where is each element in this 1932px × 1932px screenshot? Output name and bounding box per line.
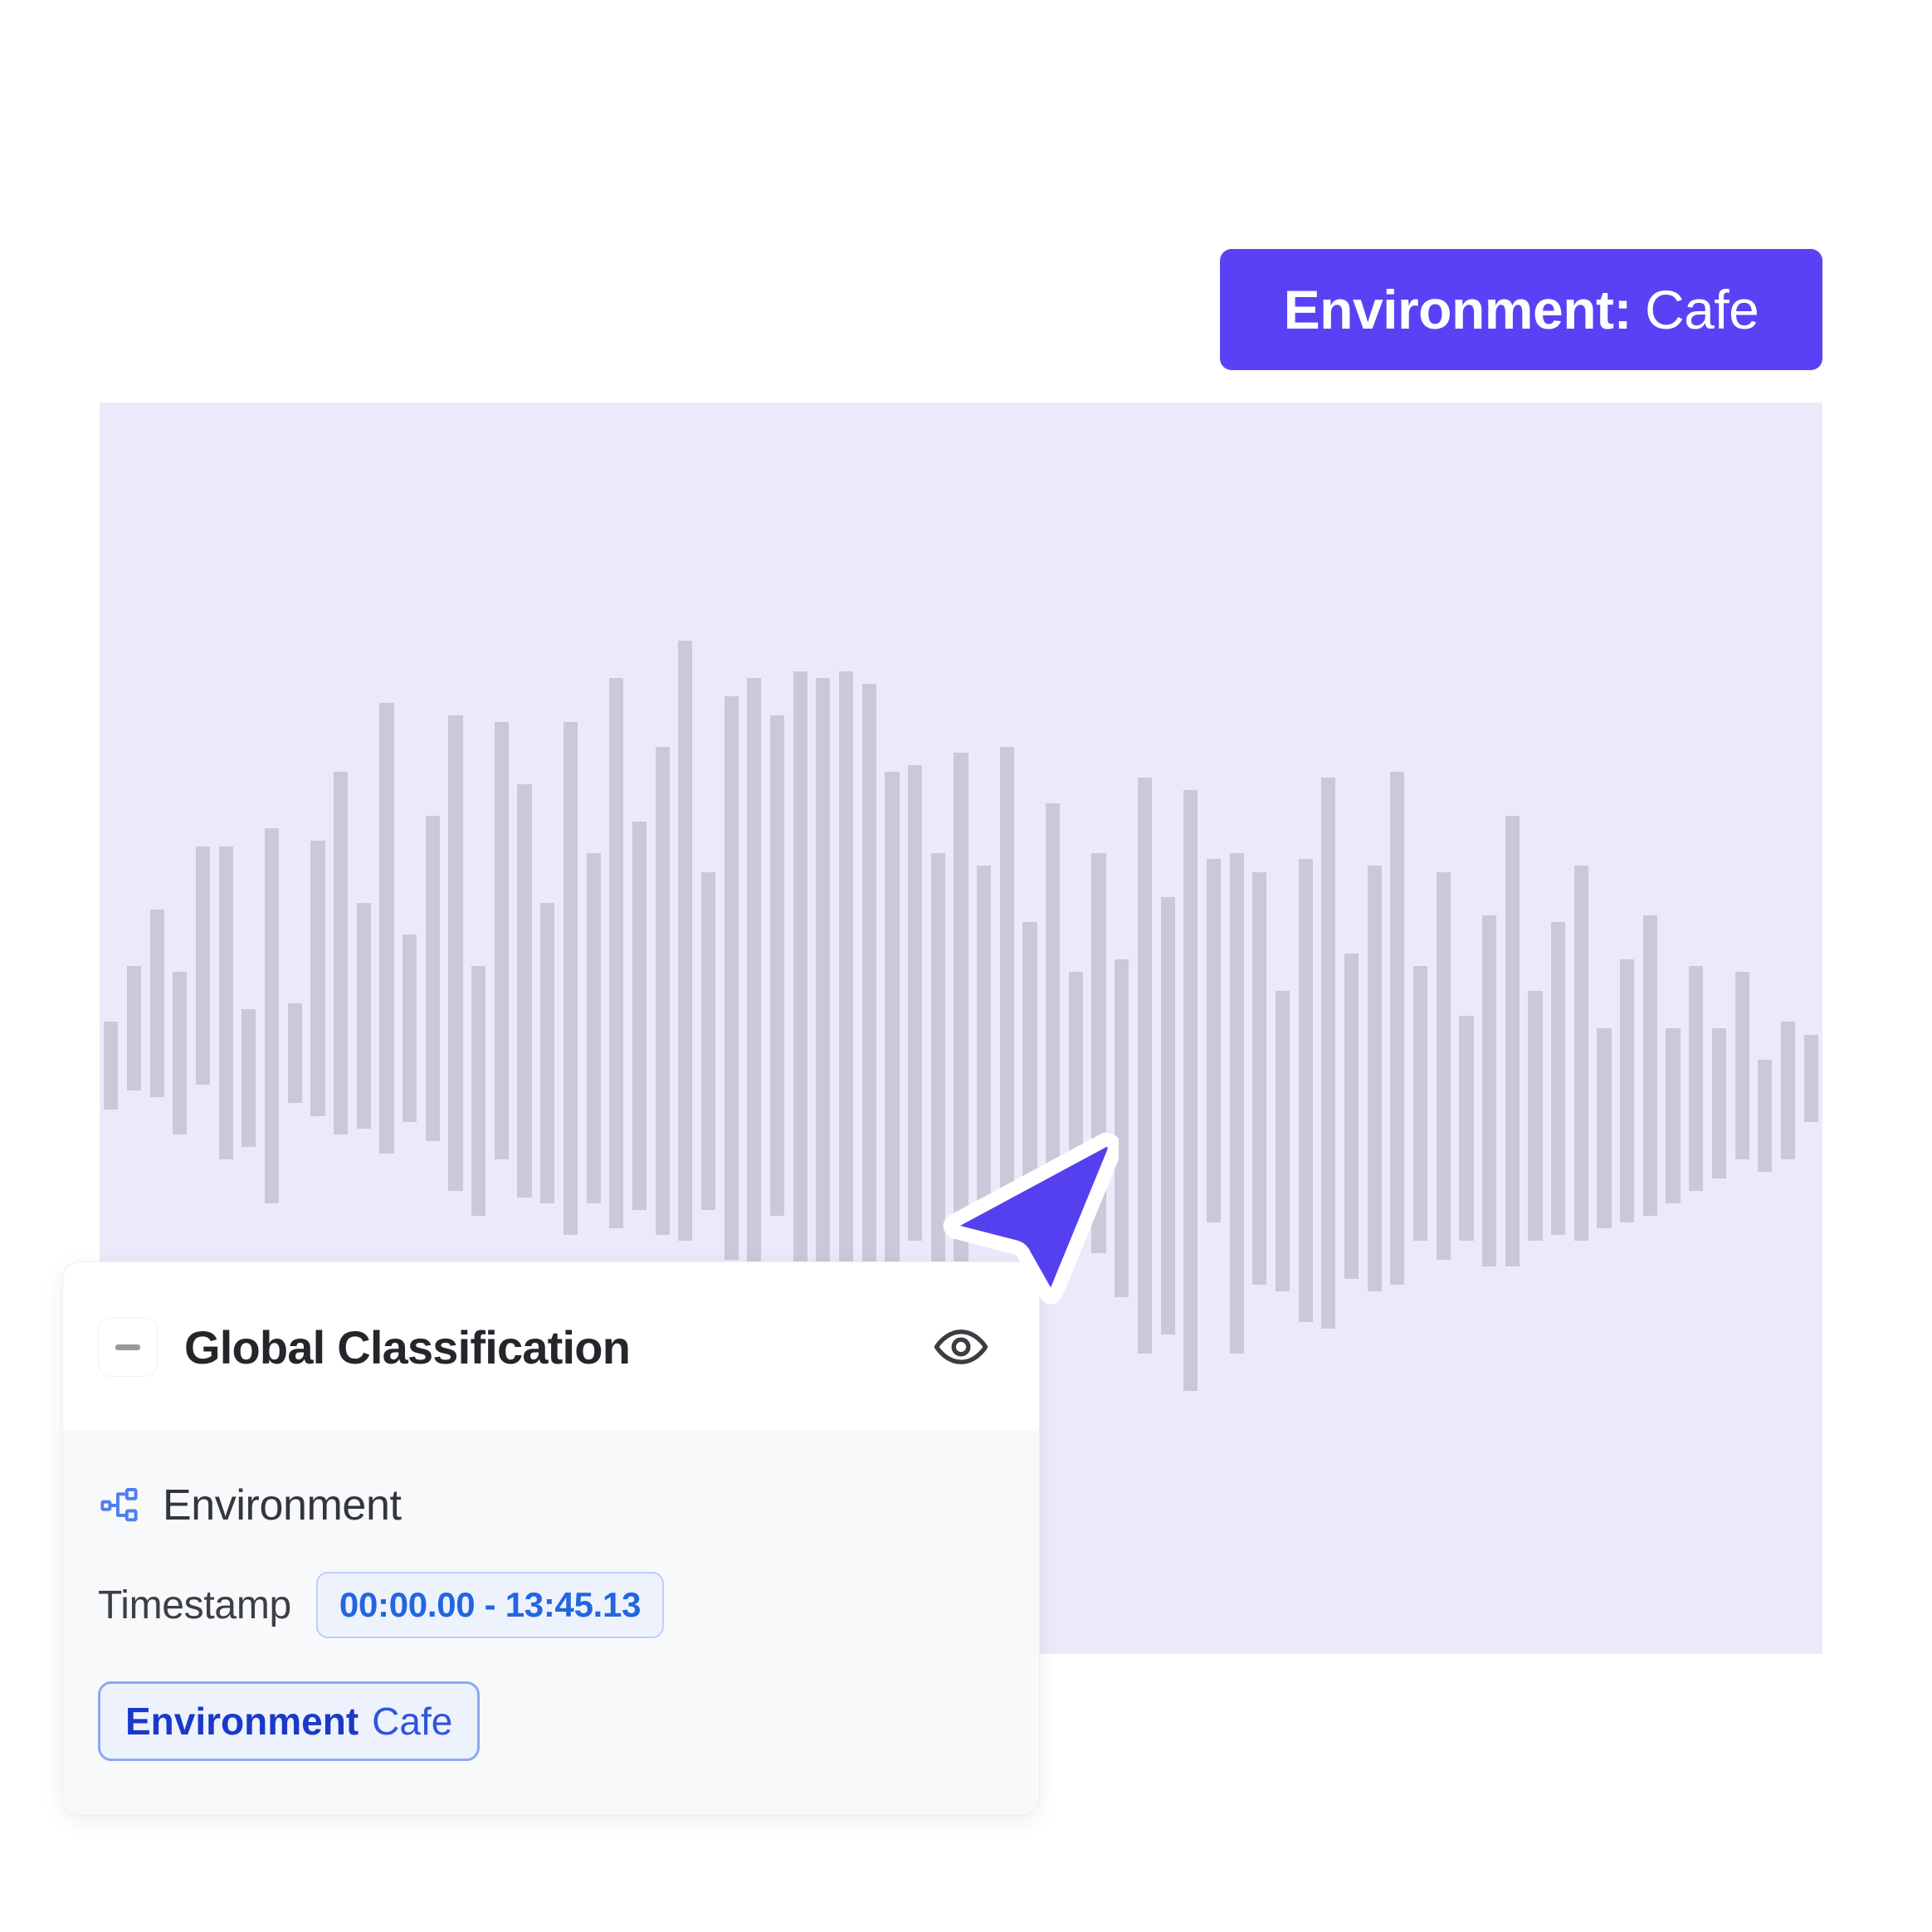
waveform-bar [173, 972, 187, 1134]
app-root: Environment: Cafe Global Classification [0, 0, 1932, 1932]
waveform-bar [1643, 915, 1657, 1216]
waveform-bar [1091, 853, 1105, 1254]
waveform-bar [1368, 866, 1382, 1291]
card-header: Global Classification [63, 1262, 1039, 1432]
collapse-button[interactable] [98, 1317, 158, 1377]
waveform-bar [1276, 991, 1290, 1291]
waveform-bar [540, 903, 554, 1203]
waveform-bar [1115, 959, 1129, 1297]
waveform-bar [1000, 747, 1014, 1235]
waveform-bar [678, 641, 692, 1242]
waveform-bar [724, 696, 739, 1260]
waveform-bar [448, 715, 462, 1191]
waveform-bar [1528, 991, 1542, 1242]
waveform-bar [1069, 972, 1083, 1235]
waveform-bar [1321, 778, 1335, 1329]
waveform-bar [747, 678, 761, 1329]
timestamp-label: Timestamp [98, 1583, 291, 1628]
waveform-bar [242, 1009, 256, 1147]
card-body: Environment Timestamp 00:00.00 - 13:45.1… [63, 1432, 1039, 1816]
waveform-bar [793, 671, 807, 1359]
waveform-bar [977, 866, 991, 1241]
waveform-bar [288, 1003, 302, 1104]
waveform-bar [1804, 1035, 1818, 1123]
waveform-bar [1459, 1016, 1473, 1241]
category-row: Environment [98, 1481, 1004, 1530]
waveform-bar [1390, 772, 1404, 1285]
waveform-bar [402, 934, 417, 1122]
waveform-bar [1712, 1028, 1726, 1178]
waveform-bar [1413, 966, 1427, 1242]
waveform-bar [517, 784, 531, 1198]
environment-badge-label: Environment: [1284, 278, 1632, 341]
environment-badge: Environment: Cafe [1220, 249, 1822, 370]
waveform-bar [357, 903, 371, 1128]
waveform-bar [426, 816, 440, 1141]
waveform-bar [1252, 872, 1266, 1286]
waveform-bar [1551, 922, 1565, 1235]
waveform-bar [632, 822, 646, 1209]
waveform-bar [1022, 922, 1037, 1235]
waveform-bar [1689, 966, 1703, 1191]
waveform-bar [379, 703, 393, 1154]
waveform-bar [1299, 859, 1313, 1322]
waveform-bar [1482, 915, 1496, 1266]
waveform-bar [127, 966, 141, 1091]
waveform-bar [587, 853, 601, 1203]
waveform-bar [1758, 1060, 1772, 1173]
waveform-bar [816, 678, 830, 1304]
waveform-bar [931, 853, 945, 1279]
waveform-bar [196, 846, 210, 1085]
waveform-bar [1666, 1028, 1680, 1203]
waveform-bar [495, 722, 509, 1160]
waveform-bar [1230, 853, 1244, 1354]
waveform-bar [885, 772, 899, 1310]
waveform-bar [862, 684, 876, 1272]
environment-badge-value: Cafe [1645, 278, 1759, 341]
waveform-bar [1505, 816, 1520, 1266]
waveform-bar [1046, 803, 1060, 1254]
waveform-bar [1781, 1022, 1795, 1159]
waveform-bar [219, 846, 233, 1159]
minus-icon [115, 1344, 140, 1350]
waveform-bar [265, 828, 279, 1203]
waveform-bar [1735, 972, 1749, 1159]
environment-tag-key: Environment [125, 1699, 359, 1744]
waveform-bar [563, 722, 578, 1235]
waveform-bar [471, 966, 485, 1217]
waveform-bar [770, 715, 784, 1216]
waveform-bar [1207, 859, 1221, 1222]
eye-icon[interactable] [929, 1315, 993, 1378]
waveform-bar [908, 765, 922, 1241]
global-classification-card: Global Classification [62, 1261, 1040, 1816]
waveform-bar [150, 910, 164, 1097]
environment-tag[interactable]: Environment Cafe [98, 1681, 480, 1761]
waveform-bar [1183, 790, 1198, 1391]
timestamp-row: Timestamp 00:00.00 - 13:45.13 [98, 1572, 1004, 1638]
timestamp-chip[interactable]: 00:00.00 - 13:45.13 [316, 1572, 664, 1638]
waveform-bar [1138, 778, 1152, 1354]
waveform-bar [1344, 954, 1359, 1279]
waveform-bar [609, 678, 623, 1229]
waveform-bar [334, 772, 348, 1134]
waveform-bar [1437, 872, 1451, 1260]
waveform-bar [1597, 1028, 1611, 1228]
hierarchy-icon [98, 1483, 143, 1528]
waveform-bar [1161, 897, 1175, 1335]
waveform-bar [656, 747, 670, 1235]
waveform-bar [104, 1022, 118, 1110]
waveform-bar [954, 753, 968, 1278]
category-label: Environment [163, 1481, 402, 1530]
waveform-bar [1620, 959, 1634, 1222]
waveform-bar [701, 872, 715, 1210]
environment-tag-value: Cafe [372, 1699, 452, 1744]
waveform-bar [310, 841, 324, 1116]
waveform-bar [1574, 866, 1588, 1241]
page-title: Global Classification [184, 1320, 630, 1374]
